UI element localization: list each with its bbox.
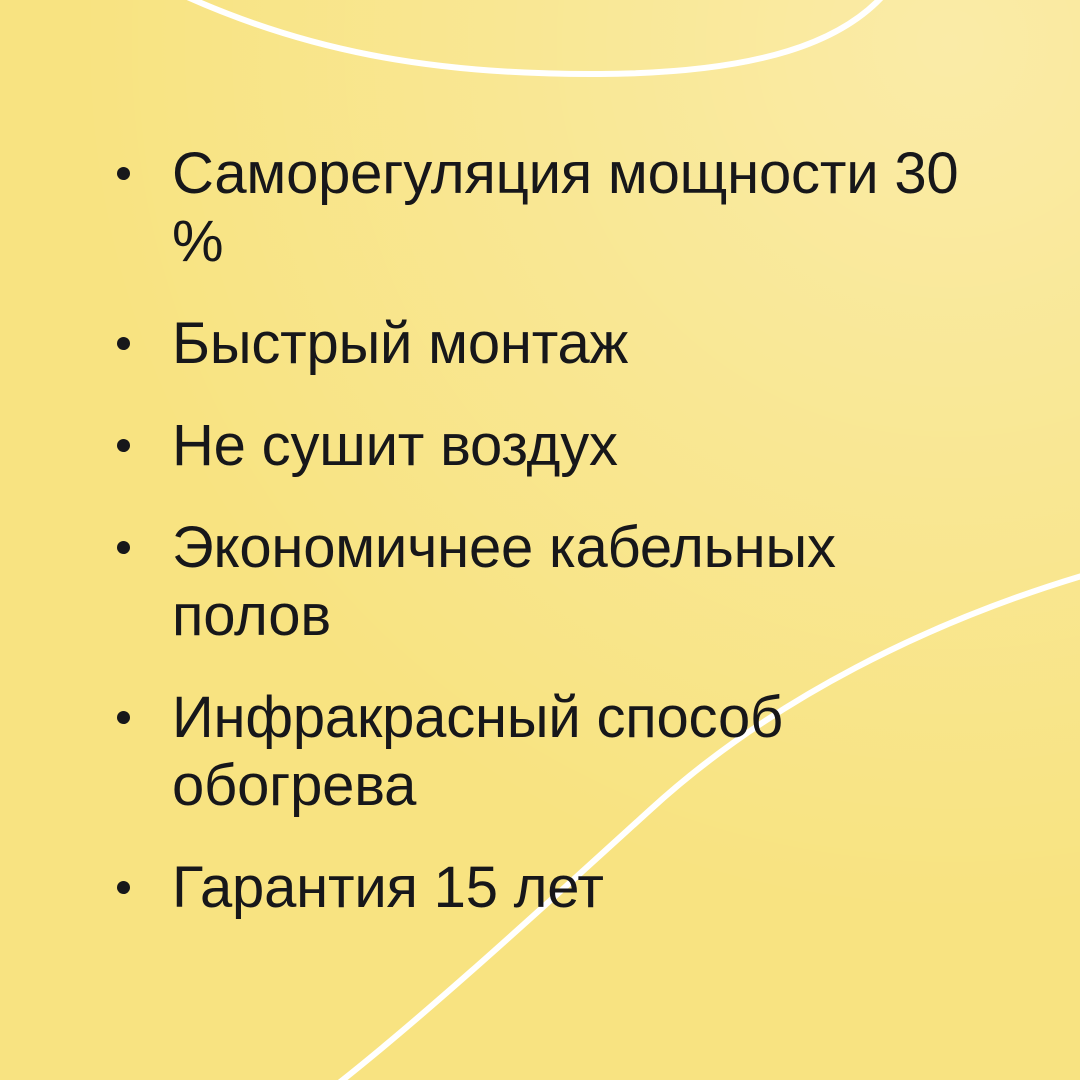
list-item: Экономичнее кабельных полов <box>108 514 968 650</box>
list-item-label: Саморегуляция мощности 30 % <box>172 140 962 276</box>
list-item: Гарантия 15 лет <box>108 854 968 922</box>
list-item: Инфракрасный способ обогрева <box>108 684 968 820</box>
list-item-label: Инфракрасный способ обогрева <box>172 684 962 820</box>
list-item: Саморегуляция мощности 30 % <box>108 140 968 276</box>
list-item-label: Гарантия 15 лет <box>172 854 962 922</box>
list-item-label: Быстрый монтаж <box>172 310 962 378</box>
bullet-dot-icon <box>117 167 130 180</box>
bullet-dot-icon <box>117 439 130 452</box>
bullet-dot-icon <box>117 881 130 894</box>
list-item: Быстрый монтаж <box>108 310 968 378</box>
bullet-dot-icon <box>117 711 130 724</box>
slide-content: Саморегуляция мощности 30 % Быстрый монт… <box>0 0 1080 1080</box>
feature-bullet-list: Саморегуляция мощности 30 % Быстрый монт… <box>108 140 968 922</box>
list-item-label: Не сушит воздух <box>172 412 962 480</box>
list-item: Не сушит воздух <box>108 412 968 480</box>
slide-canvas: Саморегуляция мощности 30 % Быстрый монт… <box>0 0 1080 1080</box>
list-item-label: Экономичнее кабельных полов <box>172 514 962 650</box>
bullet-dot-icon <box>117 337 130 350</box>
bullet-dot-icon <box>117 541 130 554</box>
